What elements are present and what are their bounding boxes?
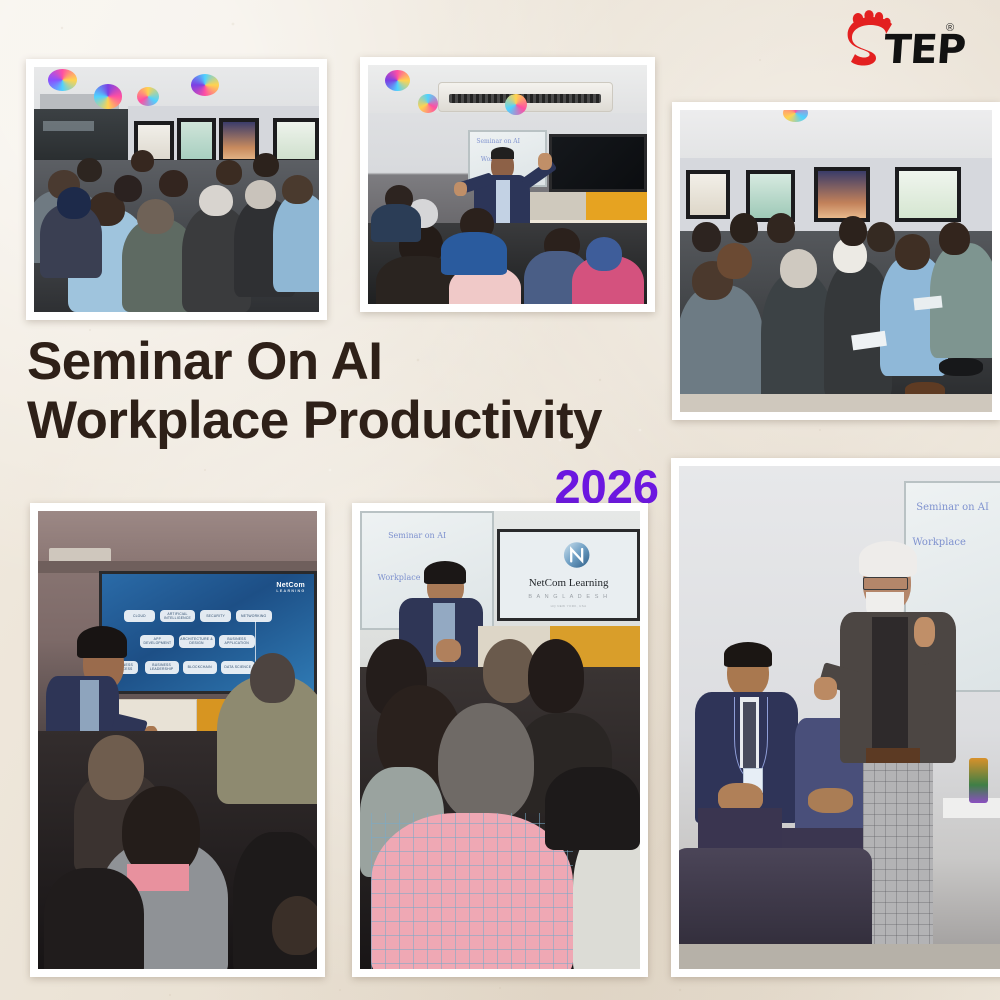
slide-box: SECURITY [200,610,232,622]
slide-subtitle: B A N G L A D E S H [500,594,637,600]
whiteboard-scribble: Seminar on AI [916,502,989,513]
photo-netcom-branding: Seminar on AI Workplace NetCom Learning … [352,503,648,977]
slide-box: ARCHITECTURE & DESIGN [179,635,215,648]
title-line-2: Workplace Productivity [27,391,687,450]
hanging-lantern-icon [418,94,438,113]
photo-audience-right [672,102,1000,420]
photo-audience-wide [26,59,327,320]
lanyard [734,697,768,778]
hanging-lantern-icon [505,94,527,116]
framed-artwork [177,118,217,162]
photo-slide-netcom-tracks: NetCom LEARNING CLOUD ARTIFICIAL INTELLI… [30,503,325,977]
slide-box: BUSINESS APPLICATION [219,635,255,648]
whiteboard-scribble: Workplace [378,573,421,582]
wall-tv [549,134,647,191]
page-title: Seminar On AI Workplace Productivity [27,332,687,450]
presentation-screen: NetCom Learning B A N G L A D E S H HQ N… [497,529,640,621]
slide-box: NETWORKING [236,610,272,622]
registered-mark-icon: ® [946,22,954,34]
glasses-icon [863,577,908,590]
slide-title: NetCom Learning [500,577,637,589]
framed-artwork [219,118,259,162]
netcom-logo-watermark: NetCom LEARNING [276,582,305,593]
hanging-lantern-icon [94,84,123,109]
framed-artwork [814,167,870,221]
title-line-1: Seminar On AI [27,332,687,391]
slide-box: ARTIFICIAL INTELLIGENCE [160,610,196,622]
framed-artwork [686,170,730,218]
framed-artwork [273,118,319,162]
slide-box: CLOUD [124,610,156,622]
whiteboard-scribble: Seminar on AI [388,531,446,540]
step-logo: TEP ® [842,10,967,72]
photo-presenter-gesturing: Seminar on AI Workplace [360,57,655,312]
slide-box: BLOCKCHAIN [183,661,217,674]
framed-artwork [895,167,961,221]
hanging-lantern-icon [385,70,410,92]
slide-box: APP DEVELOPMENT [140,635,174,648]
whiteboard-scribble: Seminar on AI [476,138,520,145]
slide-footnote: HQ NEW YORK, USA [500,604,637,608]
whiteboard-scribble: Workplace [912,537,966,548]
photo-senior-speaker: Seminar on AI Workplace [671,458,1000,977]
slide-box: BUSINESS LEADERSHIP [145,661,179,674]
